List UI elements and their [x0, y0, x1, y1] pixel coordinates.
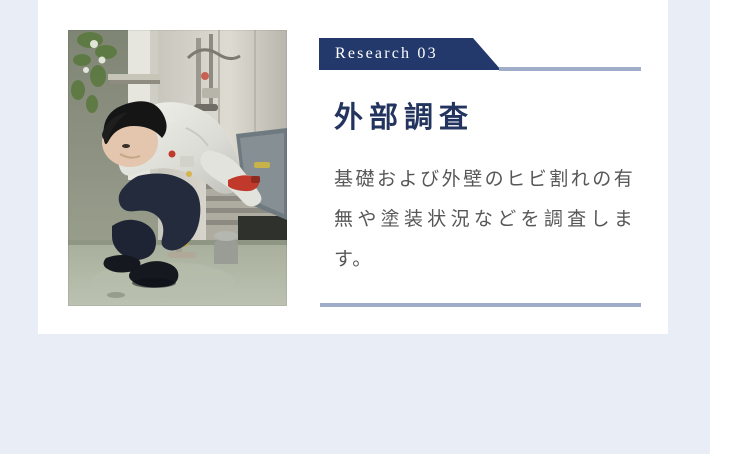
badge-taper-shape	[467, 38, 501, 70]
inspection-photo-illustration	[68, 30, 287, 306]
badge-row: Research 03	[319, 38, 641, 72]
badge-rule	[499, 67, 641, 71]
research-description: 基礎および外壁のヒビ割れの有無や塗装状況などを調査します。	[334, 160, 634, 280]
inspection-photo	[68, 30, 287, 306]
research-card: Research 03 外部調査 基礎および外壁のヒビ割れの有無や塗装状況などを…	[38, 0, 668, 334]
page-title: 外部調査	[334, 103, 474, 135]
research-text-column: Research 03 外部調査 基礎および外壁のヒビ割れの有無や塗装状況などを…	[319, 0, 668, 334]
bottom-divider	[320, 303, 641, 307]
